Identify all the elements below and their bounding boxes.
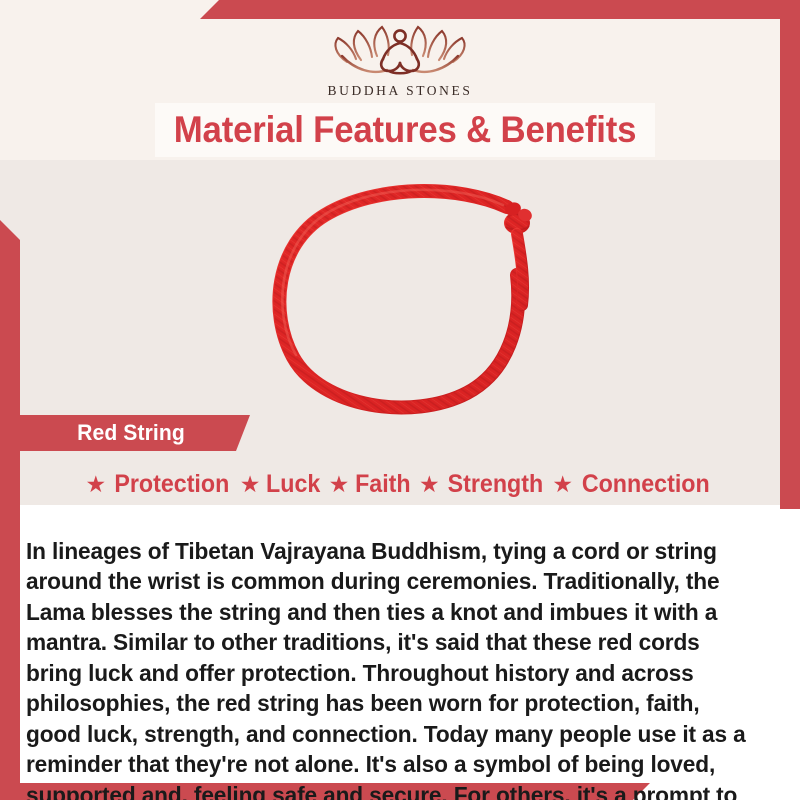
page-title: Material Features & Benefits	[174, 109, 636, 151]
star-icon: ★	[329, 473, 350, 496]
feature-label: Protection	[114, 470, 229, 499]
feature-item-faith: ★ Faith	[329, 470, 413, 499]
feature-item-connection: ★ Connection	[552, 470, 714, 499]
product-photo	[245, 165, 575, 430]
brand-logo: BUDDHA STONES	[0, 18, 800, 99]
product-infographic: BUDDHA STONES Material Features & Benefi…	[0, 0, 800, 800]
feature-item-protection: ★ Protection	[85, 470, 233, 499]
frame-accent-left	[0, 198, 20, 784]
feature-label: Faith	[355, 470, 411, 499]
lotus-meditation-icon	[325, 18, 475, 80]
feature-label: Luck	[266, 470, 320, 499]
star-icon: ★	[419, 473, 440, 496]
feature-list: ★ Protection ★ Luck ★ Faith ★ Strength ★…	[22, 466, 778, 502]
feature-item-strength: ★ Strength	[419, 470, 546, 499]
star-icon: ★	[85, 473, 106, 496]
feature-label: Connection	[582, 470, 710, 499]
description-text: In lineages of Tibetan Vajrayana Buddhis…	[26, 536, 748, 800]
frame-accent-top	[200, 0, 800, 19]
headline-panel: Material Features & Benefits	[155, 103, 655, 157]
star-icon: ★	[240, 473, 261, 496]
material-name: Red String	[23, 420, 185, 446]
feature-label: Strength	[447, 470, 543, 499]
star-icon: ★	[552, 473, 573, 496]
material-ribbon: Red String	[20, 415, 250, 451]
feature-item-luck: ★ Luck	[240, 470, 323, 499]
brand-wordmark: BUDDHA STONES	[328, 83, 473, 99]
